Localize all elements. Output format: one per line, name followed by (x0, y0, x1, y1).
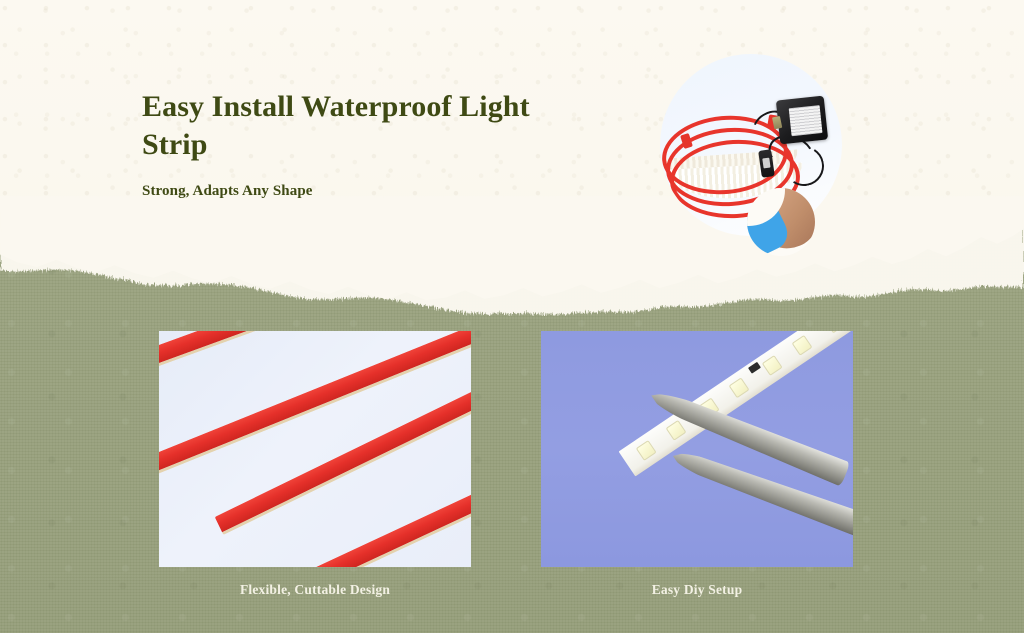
led-chip (636, 440, 657, 461)
adapter-prongs (772, 116, 782, 129)
cut-mark (748, 362, 761, 374)
led-chip (762, 355, 783, 376)
hero-secondary-photo (747, 188, 815, 256)
led-chip (792, 335, 813, 356)
feature-photo-easy-diy-setup (541, 331, 853, 567)
caption-easy-diy-setup: Easy Diy Setup (541, 582, 853, 598)
led-chip (666, 420, 687, 441)
product-feature-banner: Easy Install Waterproof Light Strip Stro… (0, 0, 1024, 633)
led-chip (729, 377, 750, 398)
flexible-strips-icon (159, 331, 471, 567)
headline-block: Easy Install Waterproof Light Strip Stro… (142, 88, 562, 200)
scissors-cutting-icon (541, 331, 853, 567)
page-title: Easy Install Waterproof Light Strip (142, 88, 562, 165)
adapter-label (789, 105, 823, 136)
led-chip (825, 331, 846, 333)
feature-photo-flexible-cuttable (159, 331, 471, 567)
caption-flexible-cuttable: Flexible, Cuttable Design (159, 582, 471, 598)
page-subtitle: Strong, Adapts Any Shape (142, 183, 562, 200)
power-adapter-icon (776, 96, 828, 145)
